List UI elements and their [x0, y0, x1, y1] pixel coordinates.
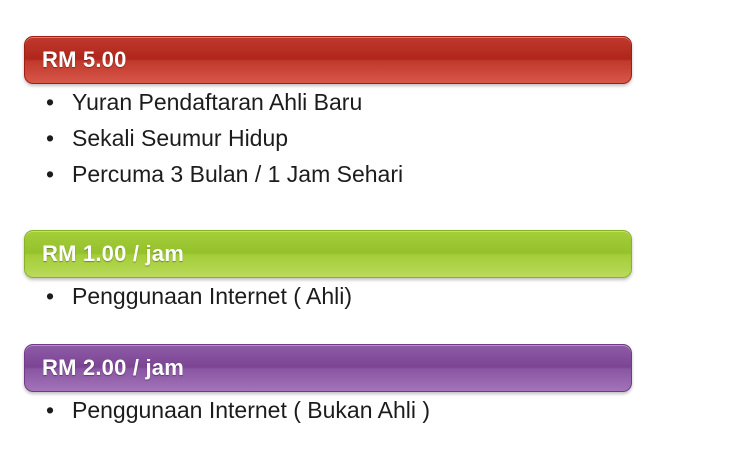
list-item: • Percuma 3 Bulan / 1 Jam Sehari	[24, 156, 632, 192]
feature-list-rm1: • Penggunaan Internet ( Ahli)	[24, 278, 632, 314]
list-item: • Penggunaan Internet ( Bukan Ahli )	[24, 392, 632, 428]
list-item-label: Percuma 3 Bulan / 1 Jam Sehari	[72, 163, 403, 186]
price-band-rm5: RM 5.00	[24, 36, 632, 84]
bullet-icon: •	[46, 285, 72, 308]
list-item-label: Penggunaan Internet ( Bukan Ahli )	[72, 399, 430, 422]
price-label-rm2: RM 2.00 / jam	[42, 355, 184, 381]
price-list-page: RM 5.00 • Yuran Pendaftaran Ahli Baru • …	[0, 0, 751, 462]
feature-list-rm5: • Yuran Pendaftaran Ahli Baru • Sekali S…	[24, 84, 632, 192]
price-section-rm5: RM 5.00 • Yuran Pendaftaran Ahli Baru • …	[24, 36, 632, 192]
price-section-rm2: RM 2.00 / jam • Penggunaan Internet ( Bu…	[24, 344, 632, 428]
price-band-rm2: RM 2.00 / jam	[24, 344, 632, 392]
list-item: • Penggunaan Internet ( Ahli)	[24, 278, 632, 314]
bullet-icon: •	[46, 127, 72, 150]
bullet-icon: •	[46, 91, 72, 114]
price-label-rm1: RM 1.00 / jam	[42, 241, 184, 267]
list-item-label: Sekali Seumur Hidup	[72, 127, 288, 150]
list-item-label: Penggunaan Internet ( Ahli)	[72, 285, 352, 308]
list-item-label: Yuran Pendaftaran Ahli Baru	[72, 91, 362, 114]
feature-list-rm2: • Penggunaan Internet ( Bukan Ahli )	[24, 392, 632, 428]
price-section-rm1: RM 1.00 / jam • Penggunaan Internet ( Ah…	[24, 230, 632, 314]
price-label-rm5: RM 5.00	[42, 47, 127, 73]
list-item: • Yuran Pendaftaran Ahli Baru	[24, 84, 632, 120]
price-band-rm1: RM 1.00 / jam	[24, 230, 632, 278]
list-item: • Sekali Seumur Hidup	[24, 120, 632, 156]
bullet-icon: •	[46, 399, 72, 422]
bullet-icon: •	[46, 163, 72, 186]
